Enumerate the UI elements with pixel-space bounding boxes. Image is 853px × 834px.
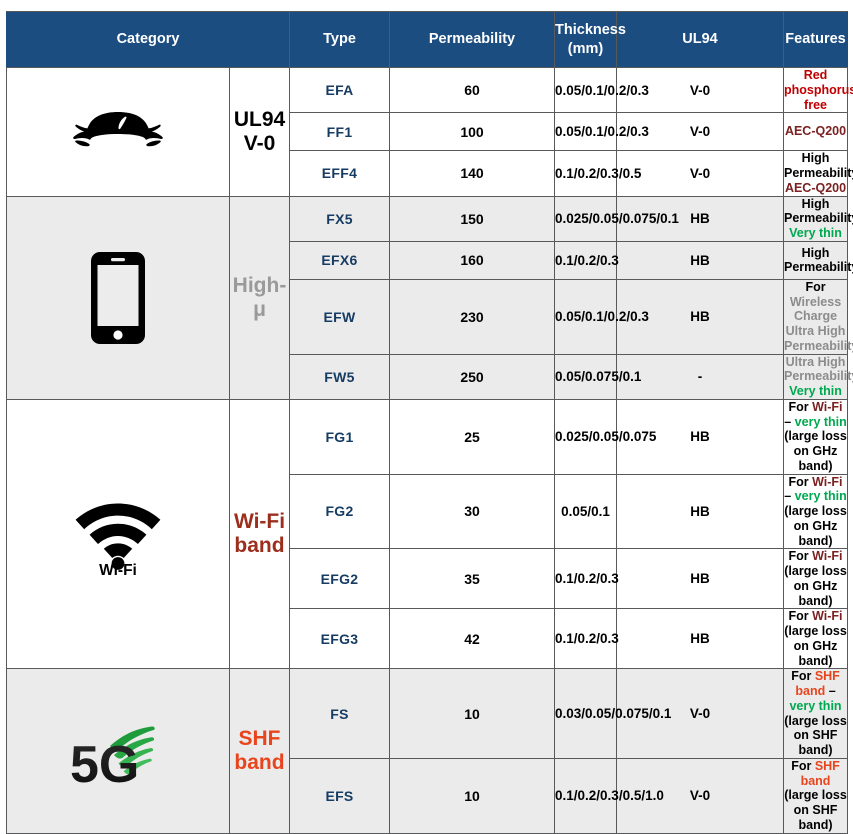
feature-text: For [791, 759, 815, 773]
cell-type: FG2 [290, 474, 390, 549]
cell-type: EFX6 [290, 241, 390, 279]
cell-ul94: V-0 [617, 758, 784, 833]
table-header: Category Type Permeability Thickness (mm… [7, 12, 848, 68]
smartphone-icon-svg [89, 250, 147, 346]
cell-ul94: HB [617, 241, 784, 279]
feature-line: For Wi-Fi [784, 549, 847, 564]
feature-text: High Permeability [784, 246, 853, 275]
cell-permeability: 160 [390, 241, 555, 279]
car-icon [7, 68, 229, 196]
feature-line: High Permeability [784, 197, 847, 227]
cell-permeability: 30 [390, 474, 555, 549]
feature-line: AEC-Q200 [784, 181, 847, 196]
feature-text: AEC-Q200 [785, 181, 846, 195]
cell-features: Red phosphorus-free [784, 68, 848, 113]
column-header-category: Category [7, 12, 290, 68]
5g-icon-label: 5G [70, 736, 139, 788]
feature-line: For SHF band [784, 759, 847, 789]
feature-line: Red phosphorus-free [784, 68, 847, 112]
cell-type: FG1 [290, 399, 390, 474]
category-label-ul94: UL94 V-0 [230, 68, 290, 197]
category-label-wifi: Wi-Fi band [230, 399, 290, 669]
feature-line: For SHF band – very thin [784, 669, 847, 713]
cell-permeability: 10 [390, 669, 555, 759]
feature-text: For [788, 475, 812, 489]
thickness-label-line2: (mm) [568, 41, 603, 57]
car-icon-svg [64, 104, 172, 160]
cell-permeability: 25 [390, 399, 555, 474]
cell-ul94: - [617, 354, 784, 399]
cell-features: AEC-Q200 [784, 113, 848, 151]
column-header-ul94: UL94 [617, 12, 784, 68]
cell-thickness: 0.05/0.1/0.2/0.3 [555, 113, 617, 151]
cell-type: FS [290, 669, 390, 759]
cell-thickness: 0.05/0.1/0.2/0.3 [555, 279, 617, 354]
cell-ul94: HB [617, 474, 784, 549]
feature-text: very thin [789, 699, 841, 713]
feature-line: Very thin [784, 384, 847, 399]
cell-features: For SHF band(large loss on SHF band) [784, 758, 848, 833]
table-row: Wi-Fi Wi-Fi bandFG1250.025/0.05/0.075HBF… [7, 399, 848, 474]
feature-text: very thin [795, 415, 847, 429]
cell-type: EFF4 [290, 151, 390, 196]
feature-line: (large loss on GHz band) [784, 429, 847, 473]
cell-permeability: 140 [390, 151, 555, 196]
table-row: High-μFX51500.025/0.05/0.075/0.1HBHigh P… [7, 196, 848, 241]
feature-text: (large loss on GHz band) [784, 564, 847, 608]
cell-type: FX5 [290, 196, 390, 241]
feature-text: High Permeability [784, 151, 853, 180]
cell-permeability: 42 [390, 609, 555, 669]
cell-features: For SHF band – very thin(large loss on S… [784, 669, 848, 759]
product-spec-table: Category Type Permeability Thickness (mm… [6, 11, 848, 834]
cell-thickness: 0.05/0.1 [555, 474, 617, 549]
feature-text: (large loss on GHz band) [784, 429, 847, 473]
cell-thickness: 0.1/0.2/0.3/0.5 [555, 151, 617, 196]
cell-features: For Wireless ChargeUltra High Permeabili… [784, 279, 848, 354]
column-header-thickness: Thickness (mm) [555, 12, 617, 68]
column-header-type: Type [290, 12, 390, 68]
feature-line: Ultra High Permeability [784, 355, 847, 385]
table-row: UL94 V-0EFA600.05/0.1/0.2/0.3V-0Red phos… [7, 68, 848, 113]
feature-text: Ultra High Permeability [784, 355, 853, 384]
feature-text: Wi-Fi [812, 400, 842, 414]
cell-type: FF1 [290, 113, 390, 151]
feature-text: – [784, 489, 794, 503]
cell-thickness: 0.05/0.075/0.1 [555, 354, 617, 399]
feature-text: – [784, 415, 794, 429]
feature-text: For [805, 280, 825, 294]
column-header-permeability: Permeability [390, 12, 555, 68]
5g-icon: 5G [7, 669, 229, 832]
feature-text: For [788, 549, 812, 563]
feature-text: – [825, 684, 835, 698]
cell-ul94: V-0 [617, 151, 784, 196]
header-row: Category Type Permeability Thickness (mm… [7, 12, 848, 68]
cell-permeability: 250 [390, 354, 555, 399]
column-header-features: Features [784, 12, 848, 68]
category-icon-cell-shf: 5G [7, 669, 230, 833]
feature-text: Wi-Fi [812, 609, 842, 623]
cell-thickness: 0.1/0.2/0.3 [555, 241, 617, 279]
cell-type: EFG2 [290, 549, 390, 609]
feature-line: Very thin [784, 226, 847, 241]
cell-features: For Wi-Fi(large loss on GHz band) [784, 609, 848, 669]
table-row: 5G SHF bandFS100.03/0.05/0.075/0.1V-0For… [7, 669, 848, 759]
cell-type: EFG3 [290, 609, 390, 669]
feature-text: Very thin [789, 384, 842, 398]
cell-permeability: 230 [390, 279, 555, 354]
feature-line: (large loss on SHF band) [784, 714, 847, 758]
feature-line: AEC-Q200 [784, 124, 847, 139]
feature-line: High Permeability [784, 151, 847, 181]
feature-text: very thin [795, 489, 847, 503]
feature-text: Wireless Charge [790, 295, 841, 324]
cell-thickness: 0.05/0.1/0.2/0.3 [555, 68, 617, 113]
thickness-label-line1: Thickness [555, 22, 626, 38]
cell-features: For Wi-Fi – very thin(large loss on GHz … [784, 399, 848, 474]
feature-text: (large loss on SHF band) [784, 714, 847, 758]
cell-thickness: 0.1/0.2/0.3 [555, 549, 617, 609]
cell-features: Ultra High PermeabilityVery thin [784, 354, 848, 399]
cell-permeability: 100 [390, 113, 555, 151]
cell-type: EFA [290, 68, 390, 113]
cell-thickness: 0.025/0.05/0.075 [555, 399, 617, 474]
cell-permeability: 150 [390, 196, 555, 241]
feature-text: For [788, 609, 812, 623]
feature-text: AEC-Q200 [785, 124, 846, 138]
cell-type: FW5 [290, 354, 390, 399]
category-icon-cell-ul94 [7, 68, 230, 197]
wifi-icon-svg: Wi-Fi [70, 491, 166, 577]
feature-line: (large loss on GHz band) [784, 504, 847, 548]
cell-thickness: 0.025/0.05/0.075/0.1 [555, 196, 617, 241]
cell-permeability: 60 [390, 68, 555, 113]
feature-text: Very thin [789, 226, 842, 240]
feature-text: (large loss on GHz band) [784, 624, 847, 668]
feature-text: (large loss on SHF band) [784, 788, 847, 832]
feature-line: For Wi-Fi [784, 609, 847, 624]
category-label-shf: SHF band [230, 669, 290, 833]
cell-features: For Wi-Fi – very thin(large loss on GHz … [784, 474, 848, 549]
feature-text: Wi-Fi [812, 475, 842, 489]
feature-line: For Wi-Fi – very thin [784, 475, 847, 505]
wifi-icon-label: Wi-Fi [99, 562, 137, 577]
feature-text: For [788, 400, 812, 414]
feature-line: Ultra High Permeability [784, 324, 847, 354]
category-icon-cell-high-mu [7, 196, 230, 399]
cell-permeability: 10 [390, 758, 555, 833]
5g-icon-svg: 5G [64, 714, 172, 788]
cell-permeability: 35 [390, 549, 555, 609]
wifi-icon: Wi-Fi [7, 400, 229, 669]
cell-features: For Wi-Fi(large loss on GHz band) [784, 549, 848, 609]
cell-thickness: 0.1/0.2/0.3/0.5/1.0 [555, 758, 617, 833]
feature-line: For Wi-Fi – very thin [784, 400, 847, 430]
feature-line: (large loss on GHz band) [784, 564, 847, 608]
category-label-high-mu: High-μ [230, 196, 290, 399]
cell-type: EFS [290, 758, 390, 833]
table-body: UL94 V-0EFA600.05/0.1/0.2/0.3V-0Red phos… [7, 68, 848, 834]
cell-thickness: 0.1/0.2/0.3 [555, 609, 617, 669]
feature-text: Red phosphorus-free [784, 68, 853, 112]
category-icon-cell-wifi: Wi-Fi [7, 399, 230, 669]
feature-line: High Permeability [784, 246, 847, 276]
cell-features: High PermeabilityAEC-Q200 [784, 151, 848, 196]
feature-text: For [791, 669, 815, 683]
cell-features: High PermeabilityVery thin [784, 196, 848, 241]
feature-line: For Wireless Charge [784, 280, 847, 324]
cell-ul94: HB [617, 549, 784, 609]
feature-text: High Permeability [784, 197, 853, 226]
feature-text: Wi-Fi [812, 549, 842, 563]
cell-ul94: V-0 [617, 669, 784, 759]
smartphone-icon [7, 197, 229, 399]
cell-thickness: 0.03/0.05/0.075/0.1 [555, 669, 617, 759]
feature-line: (large loss on SHF band) [784, 788, 847, 832]
feature-text: (large loss on GHz band) [784, 504, 847, 548]
feature-text: Ultra High Permeability [784, 324, 853, 353]
feature-line: (large loss on GHz band) [784, 624, 847, 668]
cell-features: High Permeability [784, 241, 848, 279]
cell-ul94: HB [617, 609, 784, 669]
spec-table-page: Category Type Permeability Thickness (mm… [0, 0, 853, 554]
cell-type: EFW [290, 279, 390, 354]
